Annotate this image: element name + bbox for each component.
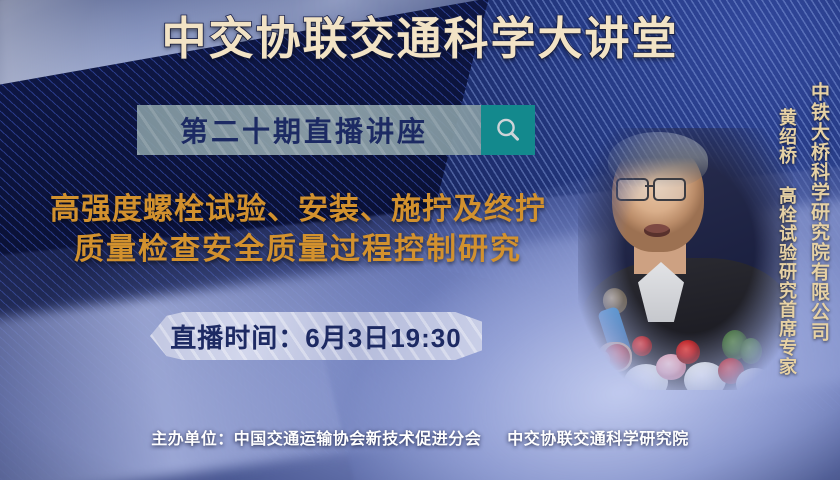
search-icon [493, 115, 523, 145]
search-button[interactable] [481, 105, 535, 155]
lecture-title-line-1: 高强度螺栓试验、安装、施拧及终拧 [6, 190, 590, 230]
institute-name: 中交协联交通科学研究院 [507, 431, 689, 448]
flower-bouquet [578, 328, 793, 390]
broadcast-time-text: 直播时间：6月3日19:30 [170, 318, 461, 355]
eyeglasses-left-lens-icon [616, 178, 649, 201]
eyeglasses-bridge-icon [645, 185, 653, 187]
page-title: 中交协联交通科学大讲堂 [0, 16, 840, 61]
footer: 主办单位：中国交通运输协会新技术促进分会中交协联交通科学研究院 [0, 425, 840, 449]
eyeglasses-right-lens-icon [653, 178, 686, 201]
speaker-portrait-photo [578, 128, 793, 390]
lecture-title-line-2: 质量检查安全质量过程控制研究 [6, 230, 590, 270]
portrait-illustration [578, 128, 793, 390]
lecture-title: 高强度螺栓试验、安装、施拧及终拧 质量检查安全质量过程控制研究 [6, 190, 590, 269]
portrait-mouth [644, 224, 670, 237]
speaker-name-and-role: 黄绍桥 高栓试验研究首席专家 [777, 108, 796, 376]
speaker-organization: 中铁大桥科学研究院有限公司 [808, 82, 828, 342]
organizer-label: 主办单位： [151, 431, 234, 448]
episode-label: 第二十期直播讲座 [137, 110, 481, 150]
episode-banner: 第二十期直播讲座 [137, 105, 535, 155]
organizer-name: 中国交通运输协会新技术促进分会 [234, 431, 482, 448]
lecture-poster: 中交协联交通科学大讲堂 第二十期直播讲座 高强度螺栓试验、安装、施拧及终拧 质量… [0, 0, 840, 480]
broadcast-time-badge: 直播时间：6月3日19:30 [150, 312, 482, 360]
